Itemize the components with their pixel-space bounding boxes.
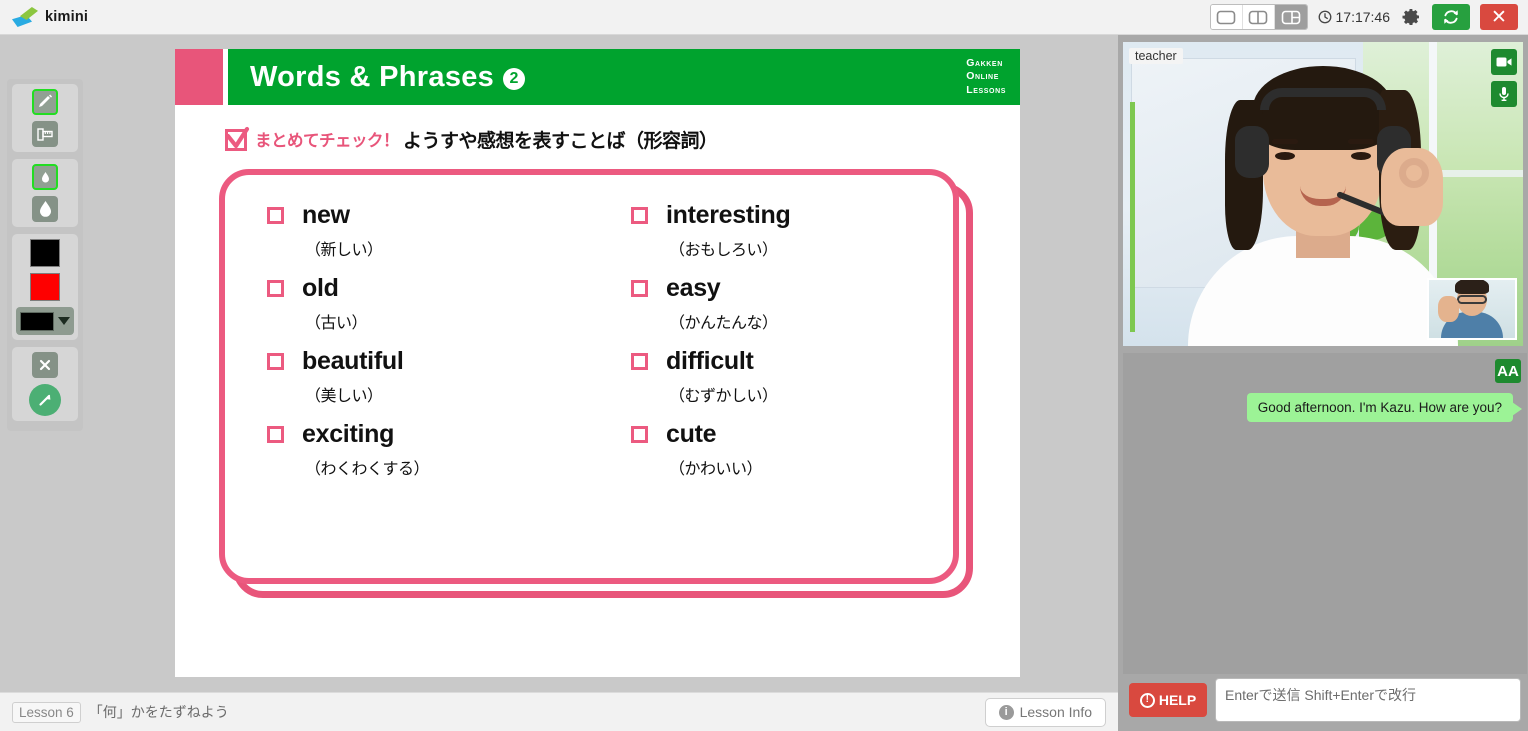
word-japanese: （かわいい） bbox=[669, 455, 953, 479]
color-swatch-red[interactable] bbox=[30, 273, 60, 301]
word-column-left: new （新しい） old （古い） beautiful （美しい） bbox=[225, 201, 589, 578]
word-item[interactable]: beautiful bbox=[267, 347, 589, 376]
slide-title-badge: 2 bbox=[503, 68, 525, 90]
word-card: new （新しい） old （古い） beautiful （美しい） bbox=[219, 169, 959, 584]
send-annotation-button[interactable] bbox=[29, 384, 61, 416]
slide-header: Words & Phrases2 Gakken Online Lessons bbox=[175, 49, 1020, 105]
camera-toggle-button[interactable] bbox=[1491, 49, 1517, 75]
video-controls bbox=[1491, 49, 1517, 107]
settings-button[interactable] bbox=[1400, 6, 1422, 28]
top-bar: kimini 17:17:46 bbox=[0, 0, 1528, 35]
word-checkbox-icon[interactable] bbox=[631, 426, 648, 443]
chat-panel: AA Good afternoon. I'm Kazu. How are you… bbox=[1123, 353, 1527, 697]
lesson-info-button[interactable]: i Lesson Info bbox=[985, 698, 1106, 727]
word-column-right: interesting （おもしろい） easy （かんたんな） difficu… bbox=[589, 201, 953, 578]
kimini-origami-logo-icon bbox=[12, 7, 38, 27]
word-japanese: （おもしろい） bbox=[669, 236, 953, 260]
word-english: cute bbox=[666, 420, 716, 449]
top-bar-controls: 17:17:46 ✕ bbox=[1210, 0, 1528, 34]
chat-message-row: Good afternoon. I'm Kazu. How are you? bbox=[1247, 393, 1513, 422]
wall-accent-strip bbox=[1130, 102, 1135, 332]
word-japanese: （美しい） bbox=[305, 382, 589, 406]
small-droplet-icon bbox=[39, 170, 52, 185]
app-brand-name: kimini bbox=[45, 9, 88, 25]
word-checkbox-icon[interactable] bbox=[267, 353, 284, 370]
word-item[interactable]: old bbox=[267, 274, 589, 303]
pencil-icon bbox=[37, 94, 54, 111]
word-japanese: （新しい） bbox=[305, 236, 589, 260]
help-label: HELP bbox=[1159, 692, 1196, 708]
word-checkbox-icon[interactable] bbox=[631, 207, 648, 224]
word-checkbox-icon[interactable] bbox=[631, 353, 648, 370]
refresh-icon bbox=[1441, 7, 1461, 27]
slide-title-wrap: Words & Phrases2 bbox=[250, 61, 525, 94]
gakken-line-3: Lessons bbox=[966, 84, 1006, 97]
large-droplet-icon bbox=[37, 200, 54, 219]
microphone-toggle-button[interactable] bbox=[1491, 81, 1517, 107]
help-button[interactable]: ! HELP bbox=[1129, 683, 1207, 717]
word-english: old bbox=[302, 274, 339, 303]
slide-subtitle-row: まとめてチェック！ ようすや感想を表すことば（形容詞） bbox=[175, 105, 1020, 153]
info-icon: i bbox=[999, 705, 1014, 720]
lesson-title: 「何」かをたずねよう bbox=[89, 702, 229, 722]
word-checkbox-icon[interactable] bbox=[267, 426, 284, 443]
lesson-number-badge: Lesson 6 bbox=[12, 702, 81, 723]
word-checkbox-icon[interactable] bbox=[267, 207, 284, 224]
word-english: difficult bbox=[666, 347, 754, 376]
word-item[interactable]: difficult bbox=[631, 347, 953, 376]
gakken-online-lessons-logo: Gakken Online Lessons bbox=[966, 57, 1006, 97]
clear-annotations-button[interactable] bbox=[32, 352, 58, 378]
checkbox-checked-icon bbox=[223, 125, 251, 153]
close-session-button[interactable]: ✕ bbox=[1480, 4, 1518, 30]
teacher-video[interactable]: teacher bbox=[1123, 42, 1523, 346]
right-panel: teacher bbox=[1118, 35, 1528, 731]
word-japanese: （むずかしい） bbox=[669, 382, 953, 406]
chat-input-bar: ! HELP bbox=[1123, 674, 1527, 726]
slide-header-green-bar: Words & Phrases2 Gakken Online Lessons bbox=[228, 49, 1020, 105]
slide-title: Words & Phrases bbox=[250, 61, 494, 93]
word-checkbox-icon[interactable] bbox=[267, 280, 284, 297]
close-icon: ✕ bbox=[1491, 8, 1507, 27]
gakken-line-2: Online bbox=[966, 70, 1006, 83]
word-english: easy bbox=[666, 274, 720, 303]
word-japanese: （わくわくする） bbox=[305, 455, 589, 479]
lesson-info-label: Lesson Info bbox=[1020, 704, 1092, 720]
chat-message-bubble: Good afternoon. I'm Kazu. How are you? bbox=[1247, 393, 1513, 422]
word-item[interactable]: easy bbox=[631, 274, 953, 303]
annotation-actions-group bbox=[12, 347, 78, 421]
drawing-tools-group bbox=[12, 84, 78, 152]
arrow-up-right-icon bbox=[36, 391, 54, 409]
layout-split-stacked-icon[interactable] bbox=[1275, 5, 1307, 29]
app-brand: kimini bbox=[12, 7, 88, 27]
word-english: new bbox=[302, 201, 350, 230]
color-group bbox=[12, 234, 78, 340]
word-english: beautiful bbox=[302, 347, 403, 376]
word-english: exciting bbox=[302, 420, 394, 449]
lesson-slide: Words & Phrases2 Gakken Online Lessons ま… bbox=[175, 49, 1020, 677]
thin-ink-button[interactable] bbox=[32, 164, 58, 190]
subtitle-pink-text: まとめてチェック！ bbox=[255, 127, 399, 151]
gakken-line-1: Gakken bbox=[966, 57, 1006, 70]
subtitle-black-text: ようすや感想を表すことば（形容詞） bbox=[403, 126, 718, 153]
color-swatch-black[interactable] bbox=[30, 239, 60, 267]
word-item[interactable]: new bbox=[267, 201, 589, 230]
gear-icon bbox=[1401, 7, 1421, 27]
session-clock: 17:17:46 bbox=[1318, 9, 1391, 25]
ink-thickness-group bbox=[12, 159, 78, 227]
alert-circle-icon: ! bbox=[1140, 693, 1155, 708]
annotation-toolbar bbox=[7, 79, 83, 431]
word-checkbox-icon[interactable] bbox=[631, 280, 648, 297]
video-camera-icon bbox=[1496, 56, 1512, 68]
font-size-button[interactable]: AA bbox=[1495, 359, 1521, 383]
teacher-video-label: teacher bbox=[1129, 48, 1183, 64]
slide-header-pink-block bbox=[175, 49, 223, 105]
word-japanese: （かんたんな） bbox=[669, 309, 953, 333]
thick-ink-button[interactable] bbox=[32, 196, 58, 222]
reload-button[interactable] bbox=[1432, 4, 1470, 30]
chevron-down-icon bbox=[58, 317, 70, 325]
word-item[interactable]: interesting bbox=[631, 201, 953, 230]
microphone-icon bbox=[1498, 86, 1510, 102]
close-x-icon bbox=[38, 358, 52, 372]
eraser-tool-button[interactable] bbox=[32, 121, 58, 147]
ruler-eraser-icon bbox=[36, 126, 54, 143]
word-item[interactable]: cute bbox=[631, 420, 953, 449]
layout-toggle-group[interactable] bbox=[1210, 4, 1308, 30]
student-self-view[interactable] bbox=[1427, 278, 1517, 340]
color-dropdown-chip bbox=[20, 312, 54, 331]
clock-icon bbox=[1318, 10, 1332, 24]
chat-input[interactable] bbox=[1215, 678, 1521, 722]
color-dropdown[interactable] bbox=[16, 307, 74, 335]
lesson-status-bar: Lesson 6 「何」かをたずねよう i Lesson Info bbox=[0, 692, 1118, 731]
layout-split-icon[interactable] bbox=[1243, 5, 1275, 29]
word-english: interesting bbox=[666, 201, 791, 230]
word-columns: new （新しい） old （古い） beautiful （美しい） bbox=[225, 175, 953, 578]
layout-single-icon[interactable] bbox=[1211, 5, 1243, 29]
word-card-wrapper: new （新しい） old （古い） beautiful （美しい） bbox=[219, 169, 959, 584]
pen-tool-button[interactable] bbox=[32, 89, 58, 115]
slide-stage: Words & Phrases2 Gakken Online Lessons ま… bbox=[0, 35, 1118, 692]
word-japanese: （古い） bbox=[305, 309, 589, 333]
clock-time: 17:17:46 bbox=[1336, 9, 1391, 25]
word-item[interactable]: exciting bbox=[267, 420, 589, 449]
